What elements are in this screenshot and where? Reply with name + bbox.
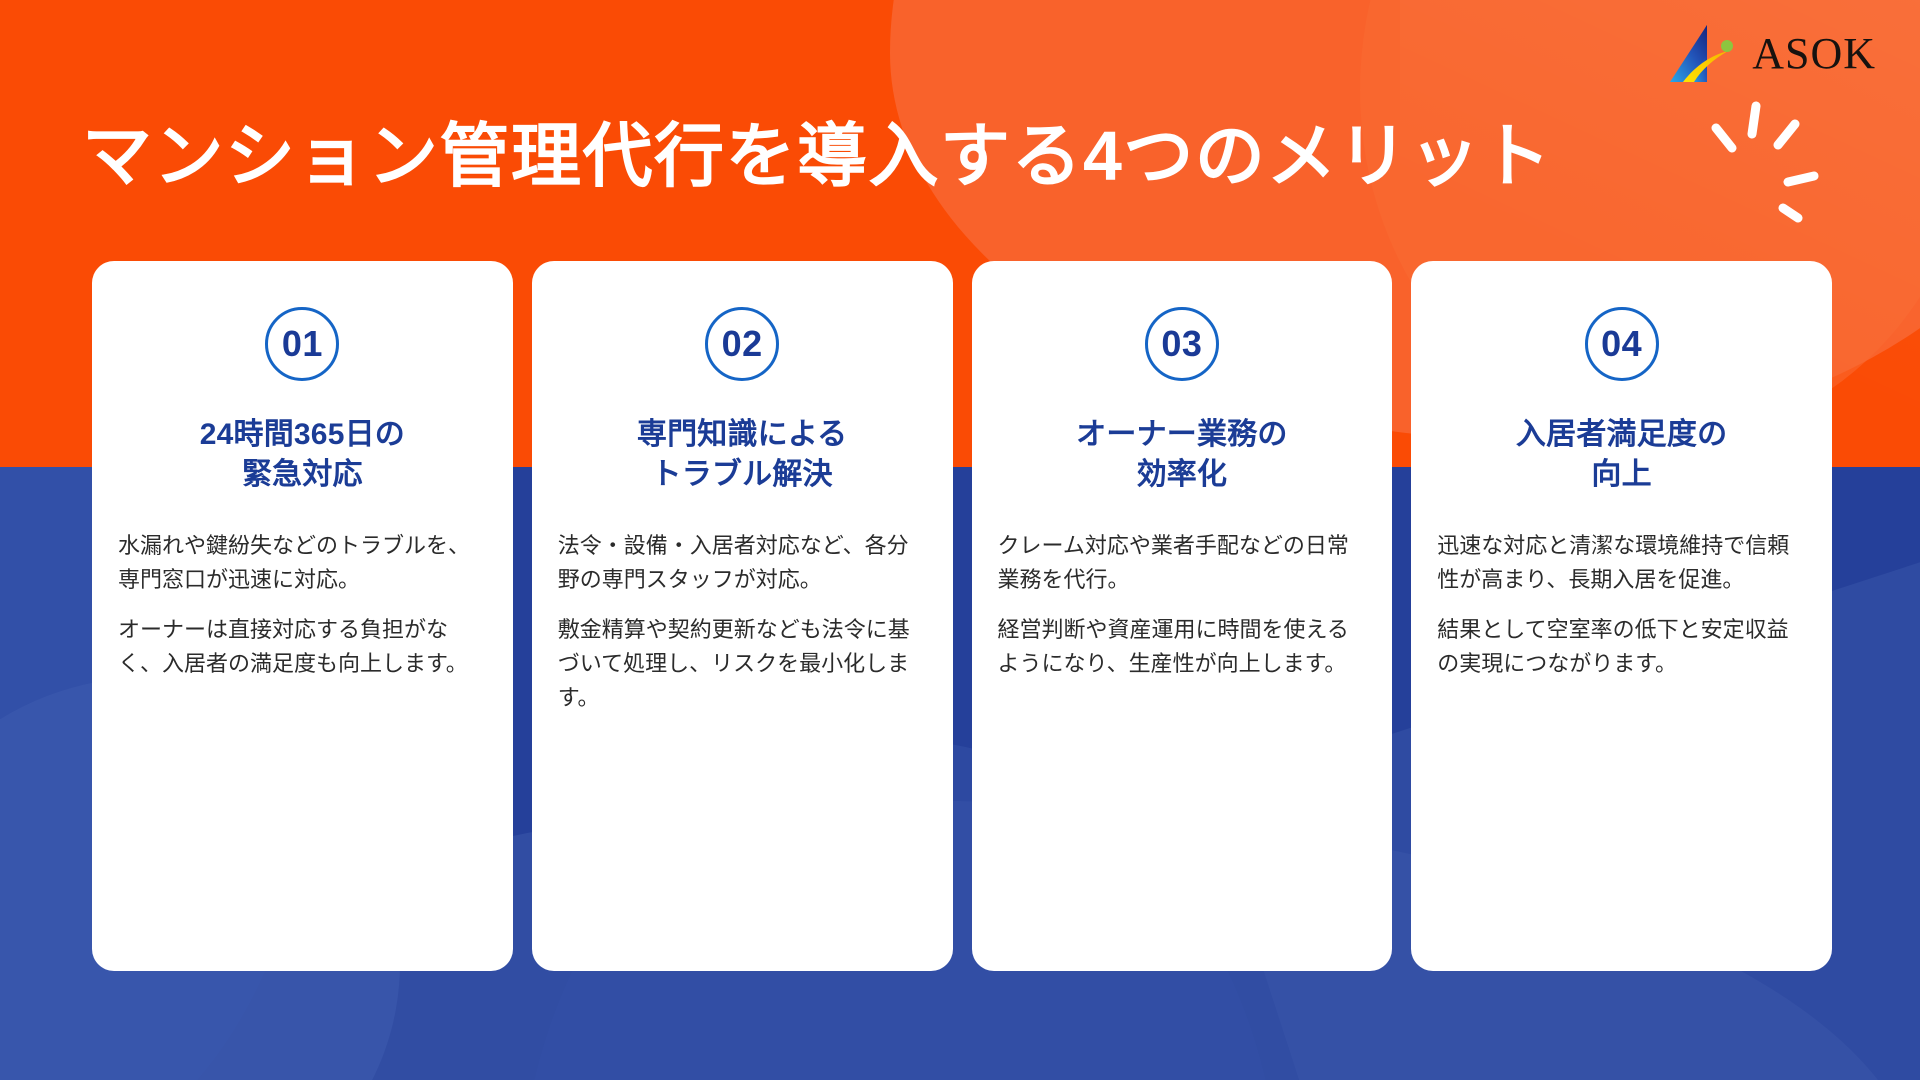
card-paragraph: クレーム対応や業者手配などの日常業務を代行。 xyxy=(998,529,1367,597)
card-number-badge: 01 xyxy=(265,307,339,381)
card-number-badge: 02 xyxy=(705,307,779,381)
sparkle-burst-icon xyxy=(1700,96,1830,226)
asok-logo: ASOK xyxy=(1666,22,1876,86)
card-title: 専門知識による トラブル解決 xyxy=(637,415,848,495)
benefit-card[interactable]: 02 専門知識による トラブル解決 法令・設備・入居者対応など、各分野の専門スタ… xyxy=(532,261,953,971)
benefit-card-list: 01 24時間365日の 緊急対応 水漏れや鍵紛失などのトラブルを、専門窓口が迅… xyxy=(92,261,1832,971)
card-number-badge: 04 xyxy=(1585,307,1659,381)
card-paragraph: 法令・設備・入居者対応など、各分野の専門スタッフが対応。 xyxy=(558,529,927,597)
slide-root: ASOK マンション管理代行を導入する4つのメリット 01 24時間365日の … xyxy=(0,0,1920,1080)
card-paragraph: オーナーは直接対応する負担がなく、入居者の満足度も向上します。 xyxy=(118,613,487,681)
asok-a-mark-icon xyxy=(1666,22,1744,86)
card-title: 入居者満足度の 向上 xyxy=(1516,415,1727,495)
benefit-card[interactable]: 04 入居者満足度の 向上 迅速な対応と清潔な環境維持で信頼性が高まり、長期入居… xyxy=(1411,261,1832,971)
benefit-card[interactable]: 03 オーナー業務の 効率化 クレーム対応や業者手配などの日常業務を代行。 経営… xyxy=(972,261,1393,971)
card-paragraph: 結果として空室率の低下と安定収益の実現につながります。 xyxy=(1437,613,1806,681)
card-body: クレーム対応や業者手配などの日常業務を代行。 経営判断や資産運用に時間を使えるよ… xyxy=(998,529,1367,681)
card-body: 法令・設備・入居者対応など、各分野の専門スタッフが対応。 敷金精算や契約更新など… xyxy=(558,529,927,715)
card-title: 24時間365日の 緊急対応 xyxy=(200,415,405,495)
card-number-badge: 03 xyxy=(1145,307,1219,381)
card-paragraph: 敷金精算や契約更新なども法令に基づいて処理し、リスクを最小化します。 xyxy=(558,613,927,715)
card-body: 水漏れや鍵紛失などのトラブルを、専門窓口が迅速に対応。 オーナーは直接対応する負… xyxy=(118,529,487,681)
logo-wordmark: ASOK xyxy=(1752,32,1876,76)
card-paragraph: 経営判断や資産運用に時間を使えるようになり、生産性が向上します。 xyxy=(998,613,1367,681)
page-title: マンション管理代行を導入する4つのメリット xyxy=(82,118,1552,195)
card-body: 迅速な対応と清潔な環境維持で信頼性が高まり、長期入居を促進。 結果として空室率の… xyxy=(1437,529,1806,681)
card-paragraph: 水漏れや鍵紛失などのトラブルを、専門窓口が迅速に対応。 xyxy=(118,529,487,597)
benefit-card[interactable]: 01 24時間365日の 緊急対応 水漏れや鍵紛失などのトラブルを、専門窓口が迅… xyxy=(92,261,513,971)
card-paragraph: 迅速な対応と清潔な環境維持で信頼性が高まり、長期入居を促進。 xyxy=(1437,529,1806,597)
card-title: オーナー業務の 効率化 xyxy=(1076,415,1287,495)
